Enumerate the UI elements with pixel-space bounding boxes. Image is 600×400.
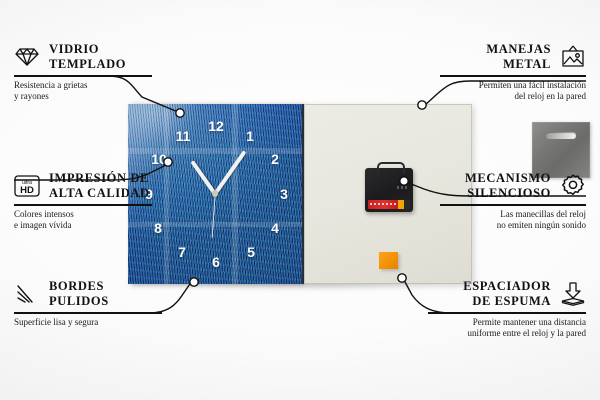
feature-desc-line1: Las manecillas del reloj: [440, 209, 586, 221]
feature-title: IMPRESIÓN DE ALTA CALIDAD: [49, 171, 150, 200]
feature-rule: [428, 312, 586, 314]
feature-desc-line1: Superficie lisa y segura: [14, 317, 164, 329]
feature-desc-line1: Resistencia a grietas: [14, 80, 154, 92]
feature-desc-line2: y rayones: [14, 91, 154, 103]
clock-center-pin: [212, 191, 218, 197]
feature-title-line2: TEMPLADO: [49, 57, 126, 72]
mechanism-detail: [397, 186, 409, 189]
face-grid-line: [232, 104, 238, 284]
feature-espaciador-espuma: ESPACIADOR DE ESPUMA Permite mantener un…: [428, 279, 586, 340]
feature-header: BORDES PULIDOS: [14, 279, 164, 308]
feature-bordes-pulidos: BORDES PULIDOS Superficie lisa y segura: [14, 279, 164, 328]
feature-rule: [14, 204, 152, 206]
gear-icon: [560, 173, 586, 199]
feature-rule: [440, 204, 586, 206]
feature-header: ultra HD IMPRESIÓN DE ALTA CALIDAD: [14, 171, 154, 200]
battery-label: [368, 200, 410, 209]
ultra-hd-icon: ultra HD: [14, 173, 40, 199]
diamond-icon: [14, 44, 40, 70]
feature-title-line1: MECANISMO: [465, 171, 551, 186]
mechanism-handle: [377, 162, 405, 174]
feature-rule: [440, 75, 586, 77]
feature-title-line2: DE ESPUMA: [463, 294, 551, 309]
feature-desc-line1: Colores intensos: [14, 209, 154, 221]
foam-spacer-icon: [560, 281, 586, 307]
feature-title: VIDRIO TEMPLADO: [49, 42, 126, 71]
quartz-mechanism-box: [365, 168, 413, 212]
clock-numeral-7: 7: [178, 245, 186, 259]
feature-desc-line2: e imagen vívida: [14, 220, 154, 232]
feature-title-line2: PULIDOS: [49, 294, 109, 309]
feature-title-line2: SILENCIOSO: [465, 186, 551, 201]
feature-title-line1: BORDES: [49, 279, 109, 294]
feature-title: MANEJAS METAL: [486, 42, 551, 71]
feature-header: MECANISMO SILENCIOSO: [440, 171, 586, 200]
feature-impresion-alta-calidad: ultra HD IMPRESIÓN DE ALTA CALIDAD Color…: [14, 171, 154, 232]
clock-numeral-5: 5: [247, 245, 255, 259]
feature-title-line1: IMPRESIÓN DE: [49, 171, 150, 186]
feature-desc-line1: Permiten una fácil instalación: [440, 80, 586, 92]
clock-numeral-6: 6: [212, 255, 220, 269]
feature-rule: [14, 75, 152, 77]
clock-numeral-11: 11: [176, 129, 191, 143]
feature-title-line2: ALTA CALIDAD: [49, 186, 150, 201]
clock-numeral-4: 4: [271, 221, 279, 235]
metal-hanger-plate: [532, 122, 590, 178]
svg-text:HD: HD: [20, 185, 34, 196]
feature-header: MANEJAS METAL: [440, 42, 586, 71]
face-grid-line: [164, 104, 169, 284]
picture-hanger-icon: [560, 44, 586, 70]
clock-front: 12 1 2 3 4 5 6 7 8 9 10 11: [128, 104, 302, 284]
feature-desc-line2: no emiten ningún sonido: [440, 220, 586, 232]
product-photo: 12 1 2 3 4 5 6 7 8 9 10 11: [128, 104, 472, 284]
clock-numeral-8: 8: [154, 221, 162, 235]
clock-numeral-12: 12: [208, 119, 224, 133]
infographic-canvas: 12 1 2 3 4 5 6 7 8 9 10 11: [0, 0, 600, 400]
feature-rule: [14, 312, 162, 314]
feature-title-line2: METAL: [486, 57, 551, 72]
polished-edges-icon: [14, 281, 40, 307]
feature-desc-line2: uniforme entre el reloj y la pared: [428, 328, 586, 340]
feature-header: VIDRIO TEMPLADO: [14, 42, 154, 71]
feature-manejas-metal: MANEJAS METAL Permiten una fácil instala…: [440, 42, 586, 103]
feature-header: ESPACIADOR DE ESPUMA: [428, 279, 586, 308]
clock-numeral-10: 10: [151, 152, 167, 166]
feature-title: ESPACIADOR DE ESPUMA: [463, 279, 551, 308]
feature-vidrio-templado: VIDRIO TEMPLADO Resistencia a grietas y …: [14, 42, 154, 103]
clock-numeral-2: 2: [271, 152, 279, 166]
foam-spacer: [379, 252, 398, 269]
feature-title: MECANISMO SILENCIOSO: [465, 171, 551, 200]
feature-title: BORDES PULIDOS: [49, 279, 109, 308]
clock-numeral-1: 1: [246, 129, 254, 143]
clock-numeral-3: 3: [280, 187, 288, 201]
feature-title-line1: MANEJAS: [486, 42, 551, 57]
feature-desc-line1: Permite mantener una distancia: [428, 317, 586, 329]
feature-title-line1: ESPACIADOR: [463, 279, 551, 294]
feature-desc-line2: del reloj en la pared: [440, 91, 586, 103]
feature-title-line1: VIDRIO: [49, 42, 126, 57]
feature-mecanismo-silencioso: MECANISMO SILENCIOSO Las manecillas del …: [440, 171, 586, 232]
